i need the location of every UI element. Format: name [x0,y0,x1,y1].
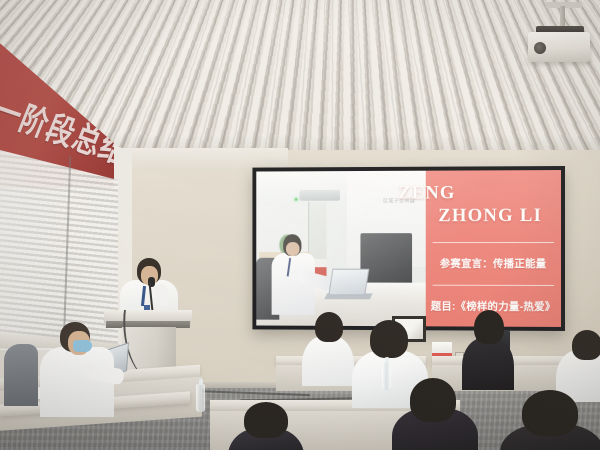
slide-photo-laptop [328,269,369,295]
attendee-head [474,310,504,344]
attendee-torso [302,336,354,386]
slide-photo-person-face [286,242,299,256]
attendee-head [370,320,408,358]
slide-name-block: ZENG ZHONG LI [425,170,561,242]
attendee-head [410,378,456,422]
projector-lens-icon [534,42,546,54]
attendee-foreground-right [500,390,600,450]
projection-screen-image: 区域子公司展 [256,170,561,327]
conference-room-photo: 一阶段总结会 区域子公司展 [0,0,600,450]
attendee-head [244,402,288,438]
attendee-center-white-shirt [302,312,354,382]
slide-photo-monitor [361,233,412,286]
attendee-head [522,390,578,436]
projection-screen[interactable]: 区域子公司展 [252,166,565,331]
face-mask-icon [73,340,92,352]
office-chair-back [4,344,38,406]
slide-info-panel: ZENG ZHONG LI 参赛宣言：传播正能量 题目:《榜样的力量-热爱》 [425,170,561,327]
attendee-foreground-left [392,378,478,450]
attendee-masked-left [44,322,122,418]
slide-photo-air-conditioner [300,190,340,201]
slide-declaration: 参赛宣言：传播正能量 [425,243,561,284]
water-bottle[interactable] [382,362,391,390]
blinds-daylight-glow [0,150,118,350]
attendee-right-white-shirt [556,330,600,396]
desk-nameplate [432,342,452,356]
water-bottle[interactable] [196,384,205,412]
attendee-head [315,312,343,342]
attendee-foreground-far-left [228,402,304,450]
slide-photo-led-indicator-icon [295,198,298,201]
window-blinds[interactable] [0,150,118,350]
attendee-woman-black-top [462,310,514,382]
slide-name-line-2: ZHONG LI [425,205,555,227]
slide-name-line-1: ZENG [398,183,555,203]
attendee-head [572,330,600,360]
